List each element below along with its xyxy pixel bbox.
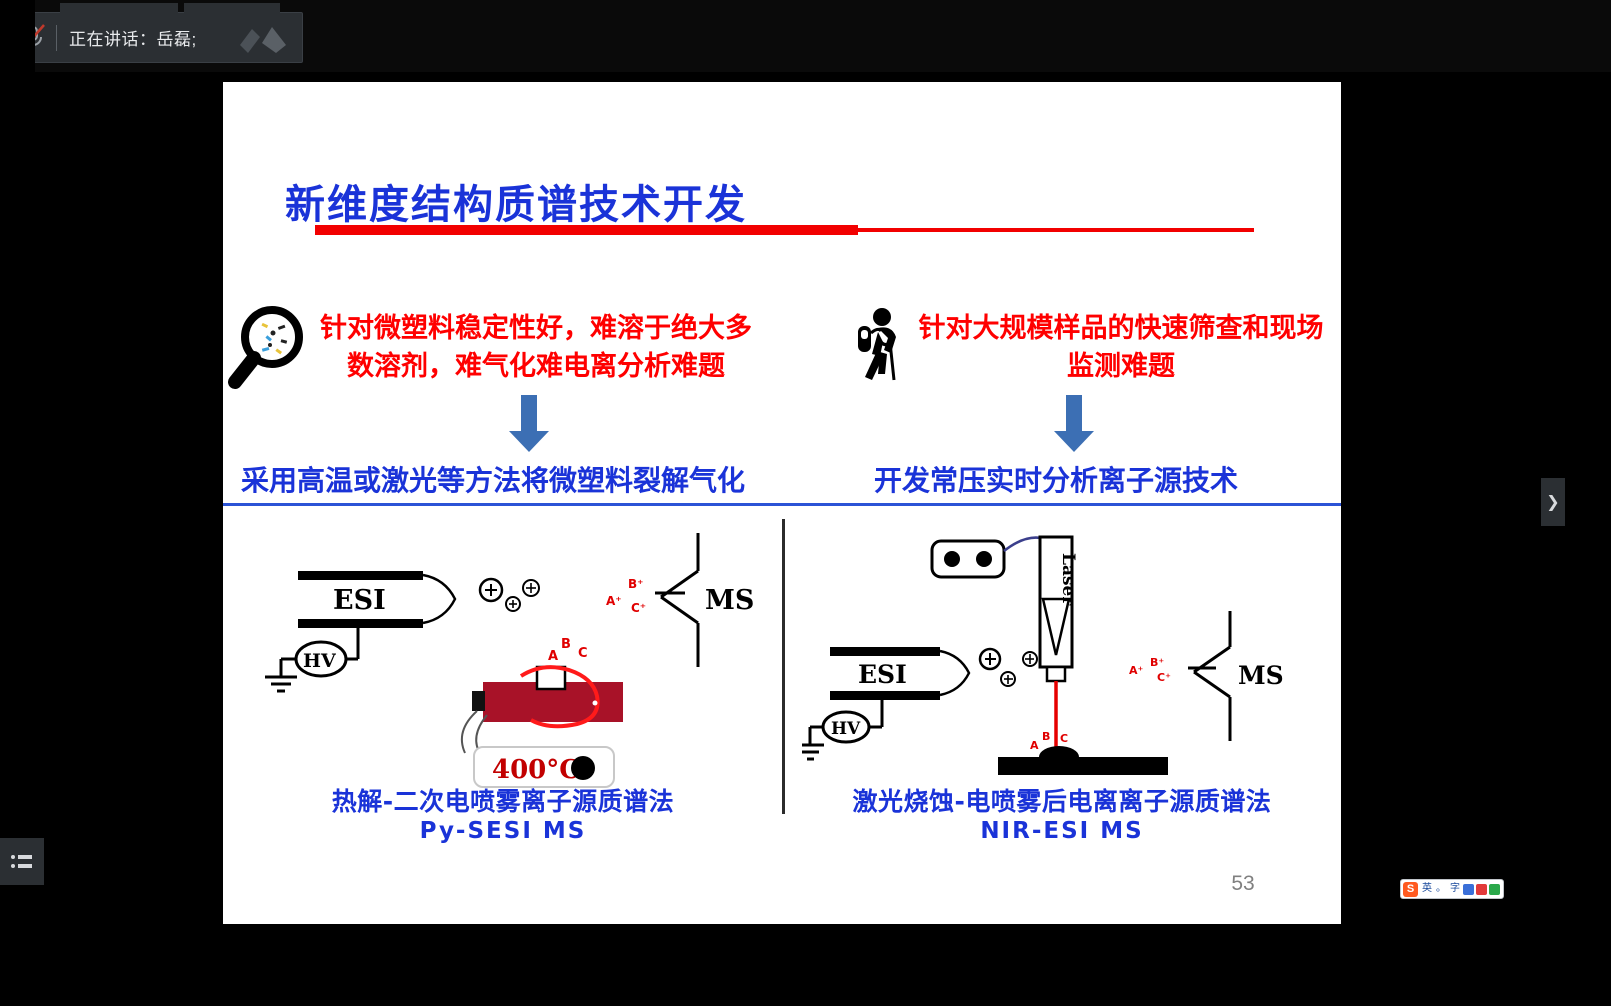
chevron-right-icon: ❯ — [1546, 492, 1559, 512]
right-caption-en: NIR-ESI MS — [812, 817, 1312, 845]
svg-text:C: C — [578, 646, 588, 661]
svg-text:HV: HV — [303, 650, 337, 672]
ime-emoji-icon[interactable] — [1476, 884, 1487, 895]
svg-text:B⁺: B⁺ — [628, 577, 643, 591]
presentation-slide: 新维度结构质谱技术开发 — [223, 82, 1341, 924]
ime-language-mode[interactable]: 英 — [1420, 881, 1434, 897]
ime-toolbar[interactable]: S 英 。 字 — [1400, 879, 1504, 899]
svg-text:C: C — [1060, 732, 1068, 745]
ime-keyboard-icon[interactable] — [1463, 884, 1474, 895]
left-problem-text: 针对微塑料稳定性好，难溶于绝大多数溶剂，难气化难电离分析难题 — [311, 310, 761, 386]
slide-page-number: 53 — [1213, 872, 1273, 896]
slide-title: 新维度结构质谱技术开发 — [285, 172, 747, 230]
svg-text:B: B — [561, 637, 571, 652]
svg-text:B⁺: B⁺ — [1150, 656, 1164, 669]
expand-panel-button[interactable]: ❯ — [1541, 478, 1565, 526]
svg-text:MS: MS — [1238, 661, 1284, 690]
left-caption: 热解-二次电喷雾离子源质谱法 Py-SESI MS — [253, 787, 753, 845]
left-caption-en: Py-SESI MS — [253, 817, 753, 845]
tab-stub-left — [60, 3, 178, 13]
speaking-status-text: 正在讲话： — [69, 30, 157, 49]
svg-text:A⁺: A⁺ — [606, 594, 622, 608]
ime-logo-icon[interactable]: S — [1403, 882, 1418, 897]
active-speaker-label: 正在讲话：岳磊; — [69, 25, 197, 50]
svg-text:C⁺: C⁺ — [1157, 671, 1171, 684]
py-sesi-diagram: ESI HV — [243, 519, 763, 789]
right-caption: 激光烧蚀-电喷雾后电离离子源质谱法 NIR-ESI MS — [812, 787, 1312, 845]
ime-item-0[interactable]: 。 — [1434, 881, 1448, 897]
section-divider-vertical — [782, 519, 785, 814]
speaker-name-text: 岳磊; — [157, 30, 197, 49]
down-arrow-icon — [507, 395, 551, 453]
participant-list-button[interactable] — [0, 838, 44, 885]
svg-text:A: A — [548, 649, 558, 664]
ime-item-1[interactable]: 字 — [1448, 881, 1462, 897]
svg-text:ESI: ESI — [858, 660, 907, 689]
svg-text:C⁺: C⁺ — [631, 601, 646, 615]
meeting-top-bar: 正在讲话：岳磊; — [0, 0, 1611, 72]
svg-text:HV: HV — [831, 719, 861, 739]
participant-list-icon — [10, 852, 34, 872]
meeting-app-window: 正在讲话：岳磊; 新维度结构质谱技术开发 — [0, 0, 1611, 1006]
magnifier-microplastics-icon — [226, 304, 312, 390]
title-rule-thick — [315, 225, 858, 235]
svg-text:A: A — [1030, 739, 1039, 752]
ime-toolbox-icon[interactable] — [1489, 884, 1500, 895]
right-solution-text: 开发常压实时分析离子源技术 — [874, 459, 1238, 499]
panel-divider — [56, 25, 57, 51]
svg-text:MS: MS — [705, 585, 754, 616]
svg-text:400°C: 400°C — [492, 755, 580, 785]
nir-esi-diagram: Laser ESI HV — [802, 519, 1322, 789]
tab-stub-right — [184, 3, 280, 13]
shared-screen-stage: 新维度结构质谱技术开发 — [35, 82, 1389, 924]
down-arrow-icon — [1052, 395, 1096, 453]
left-solution-text: 采用高温或激光等方法将微塑料裂解气化 — [241, 459, 745, 499]
svg-text:A⁺: A⁺ — [1129, 664, 1144, 677]
right-problem-text: 针对大规模样品的快速筛查和现场监测难题 — [906, 310, 1336, 386]
app-logo-icon — [236, 23, 292, 55]
active-speaker-panel[interactable]: 正在讲话：岳磊; — [7, 12, 303, 63]
left-caption-cn: 热解-二次电喷雾离子源质谱法 — [253, 787, 753, 817]
svg-text:ESI: ESI — [333, 585, 386, 616]
section-divider-horizontal — [223, 503, 1341, 506]
svg-text:B: B — [1042, 730, 1050, 743]
right-caption-cn: 激光烧蚀-电喷雾后电离离子源质谱法 — [812, 787, 1312, 817]
title-rule-thin — [858, 228, 1254, 232]
